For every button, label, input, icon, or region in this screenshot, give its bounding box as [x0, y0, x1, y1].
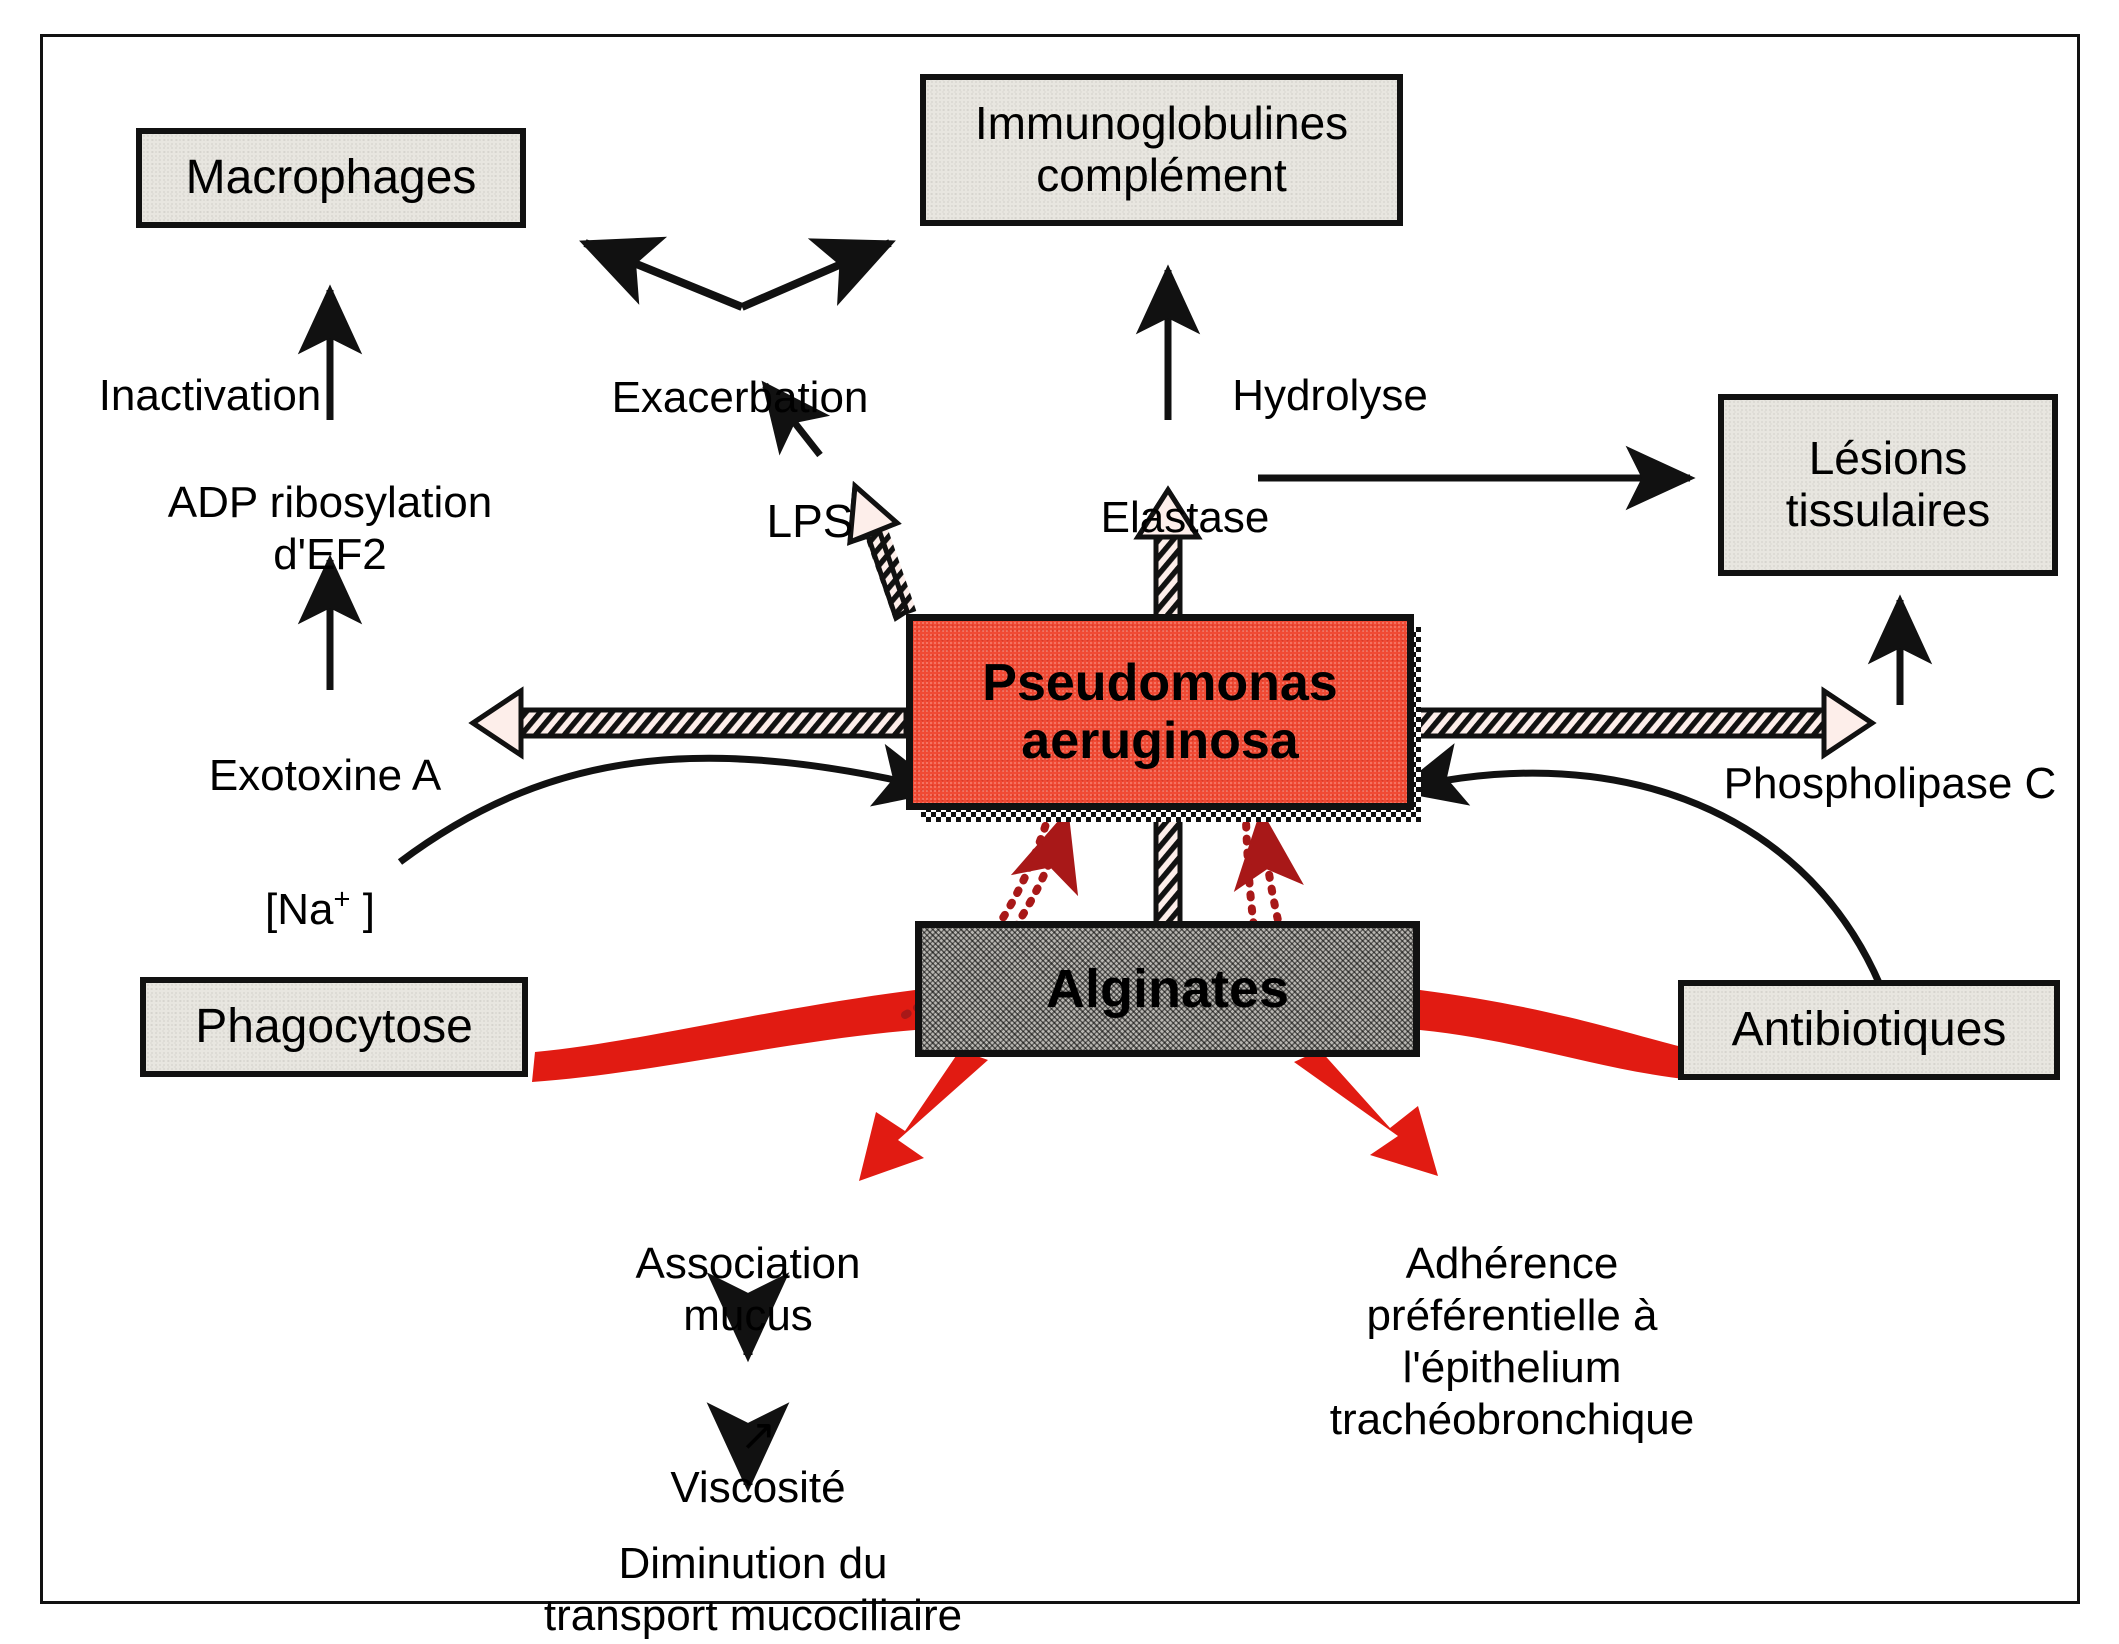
box-lesions-tissulaires[interactable]: Lésions tissulaires — [1718, 394, 2058, 576]
label-sodium-concentration: [Na+ ] — [190, 832, 450, 936]
box-pseudomonas-aeruginosa[interactable]: Pseudomonas aeruginosa — [906, 614, 1414, 810]
label-exacerbation: Exacerbation — [570, 320, 910, 424]
diagram-canvas: Macrophages Immunoglobulines complément … — [0, 0, 2119, 1644]
label-hydrolyse: Hydrolyse — [1185, 318, 1475, 422]
label-exotoxine-a: Exotoxine A — [170, 698, 480, 802]
label-elastase: Elastase — [1060, 440, 1310, 544]
label-adherence-epithelium: Adhérence préférentielle à l'épithelium … — [1302, 1186, 1722, 1446]
box-antibiotiques[interactable]: Antibiotiques — [1678, 980, 2060, 1080]
label-association-mucus: Association mucus — [578, 1186, 918, 1342]
box-alginates-label: Alginates — [1040, 959, 1295, 1019]
label-adp-ribosylation: ADP ribosylation d'EF2 — [140, 425, 520, 581]
box-pseudomonas-label: Pseudomonas aeruginosa — [913, 654, 1407, 770]
box-macrophages[interactable]: Macrophages — [136, 128, 526, 228]
box-phagocytose[interactable]: Phagocytose — [140, 977, 528, 1077]
box-immunoglobulines-label: Immunoglobulines complément — [926, 98, 1397, 201]
label-lps: LPS — [730, 440, 890, 549]
label-inactivation: Inactivation — [60, 318, 360, 422]
box-phagocytose-label: Phagocytose — [189, 1000, 479, 1054]
label-diminution-transport: Diminution du transport mucociliaire — [498, 1486, 1008, 1642]
label-phospholipase-c: Phospholipase C — [1690, 706, 2090, 810]
viscosite-increase-icon: ↗ — [740, 1411, 777, 1460]
box-immunoglobulines[interactable]: Immunoglobulines complément — [920, 74, 1403, 226]
box-lesions-label: Lésions tissulaires — [1724, 433, 2052, 536]
box-antibiotiques-label: Antibiotiques — [1726, 1003, 2013, 1057]
box-macrophages-label: Macrophages — [180, 151, 483, 205]
sodium-superscript: + — [334, 883, 351, 915]
box-alginates[interactable]: Alginates — [915, 921, 1420, 1057]
